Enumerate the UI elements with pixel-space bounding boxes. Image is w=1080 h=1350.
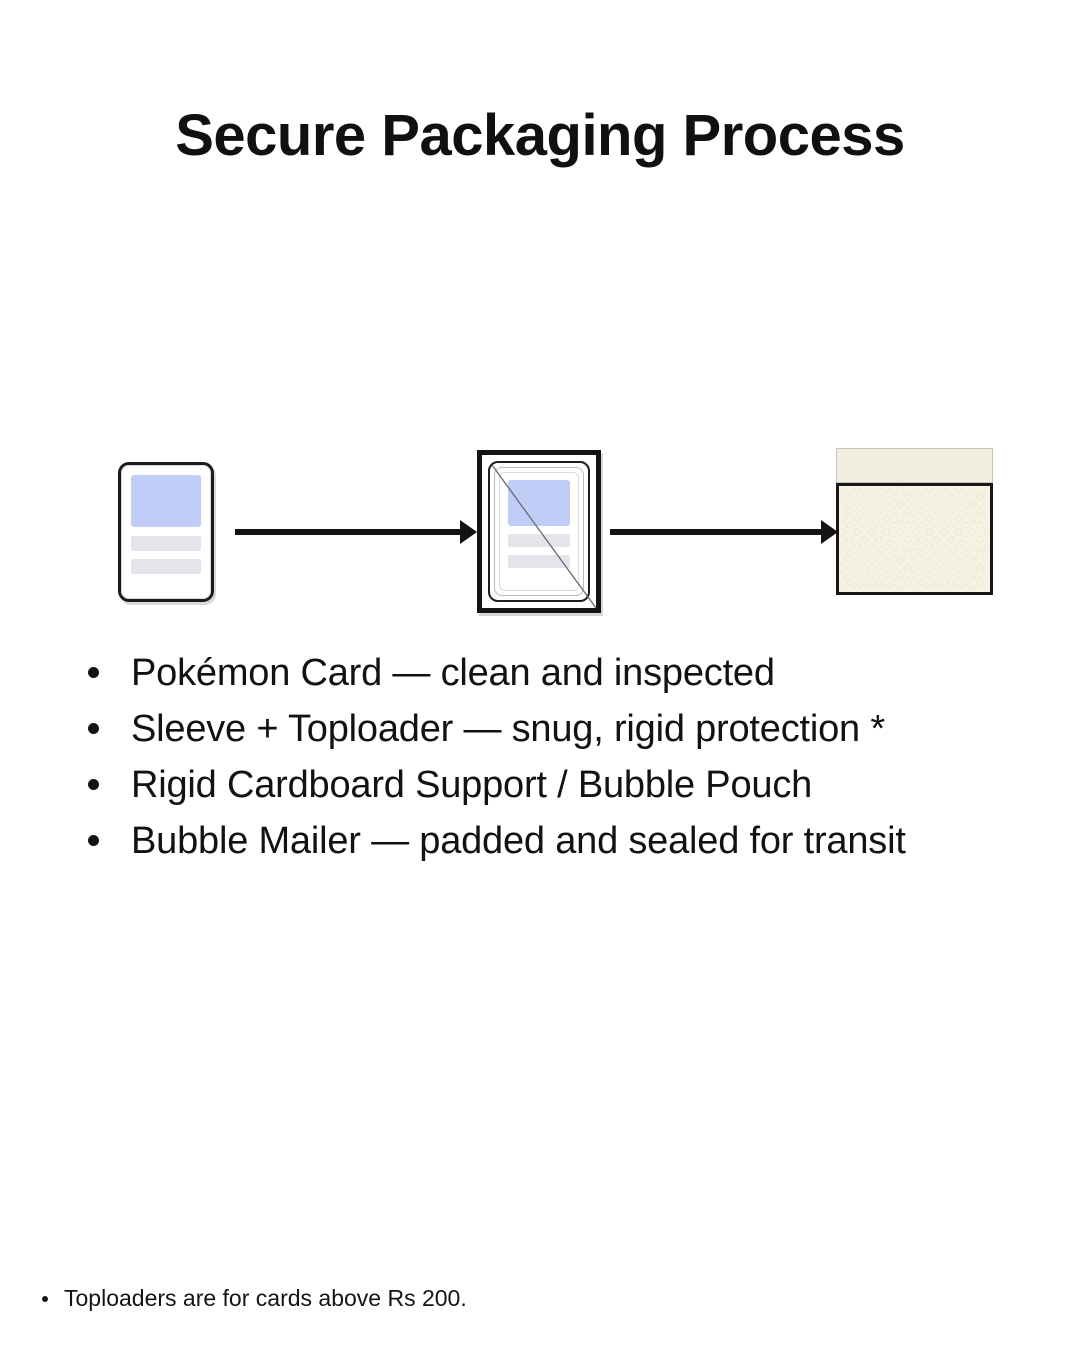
flow-arrow-1-head-icon xyxy=(460,520,477,544)
list-item-label: Sleeve + Toploader — snug, rigid protect… xyxy=(131,704,885,754)
bullet-dot-icon xyxy=(88,779,99,790)
list-item-label: Pokémon Card — clean and inspected xyxy=(131,648,775,698)
card-text-bar xyxy=(508,534,570,547)
card-artwork-block xyxy=(131,475,201,527)
toploader-shell xyxy=(488,461,590,602)
list-item: Rigid Cardboard Support / Bubble Pouch xyxy=(88,760,1048,816)
card-text-bar xyxy=(508,555,570,568)
bullet-dot-icon xyxy=(88,835,99,846)
flow-arrow-2-shaft xyxy=(610,529,824,535)
card-text-bar xyxy=(131,536,201,551)
list-item-label: Rigid Cardboard Support / Bubble Pouch xyxy=(131,760,812,810)
footnote: Toploaders are for cards above Rs 200. xyxy=(42,1283,467,1313)
list-item: Bubble Mailer — padded and sealed for tr… xyxy=(88,816,1048,872)
bubble-wrap-pattern-icon xyxy=(839,486,990,592)
diagram-stage-pokemon-card xyxy=(118,462,214,602)
diagram-stage-sleeve-toploader xyxy=(477,450,601,613)
mailer-flap xyxy=(836,448,993,483)
bullet-dot-icon xyxy=(88,667,99,678)
list-item-label: Bubble Mailer — padded and sealed for tr… xyxy=(131,816,906,866)
card-artwork-block xyxy=(508,480,570,526)
bullet-dot-icon xyxy=(88,723,99,734)
page-title: Secure Packaging Process xyxy=(0,104,1080,168)
list-item: Pokémon Card — clean and inspected xyxy=(88,648,1048,704)
card-text-bar xyxy=(131,559,201,574)
mailer-body xyxy=(836,483,993,595)
bullet-dot-icon xyxy=(42,1296,48,1302)
packaging-steps-list: Pokémon Card — clean and inspected Sleev… xyxy=(88,648,1048,872)
packaging-process-diagram xyxy=(0,430,1080,625)
flow-arrow-1-shaft xyxy=(235,529,463,535)
card-face xyxy=(499,472,579,591)
footnote-label: Toploaders are for cards above Rs 200. xyxy=(64,1283,467,1313)
card-sleeve xyxy=(494,467,584,596)
card-face xyxy=(121,465,211,599)
list-item: Sleeve + Toploader — snug, rigid protect… xyxy=(88,704,1048,760)
